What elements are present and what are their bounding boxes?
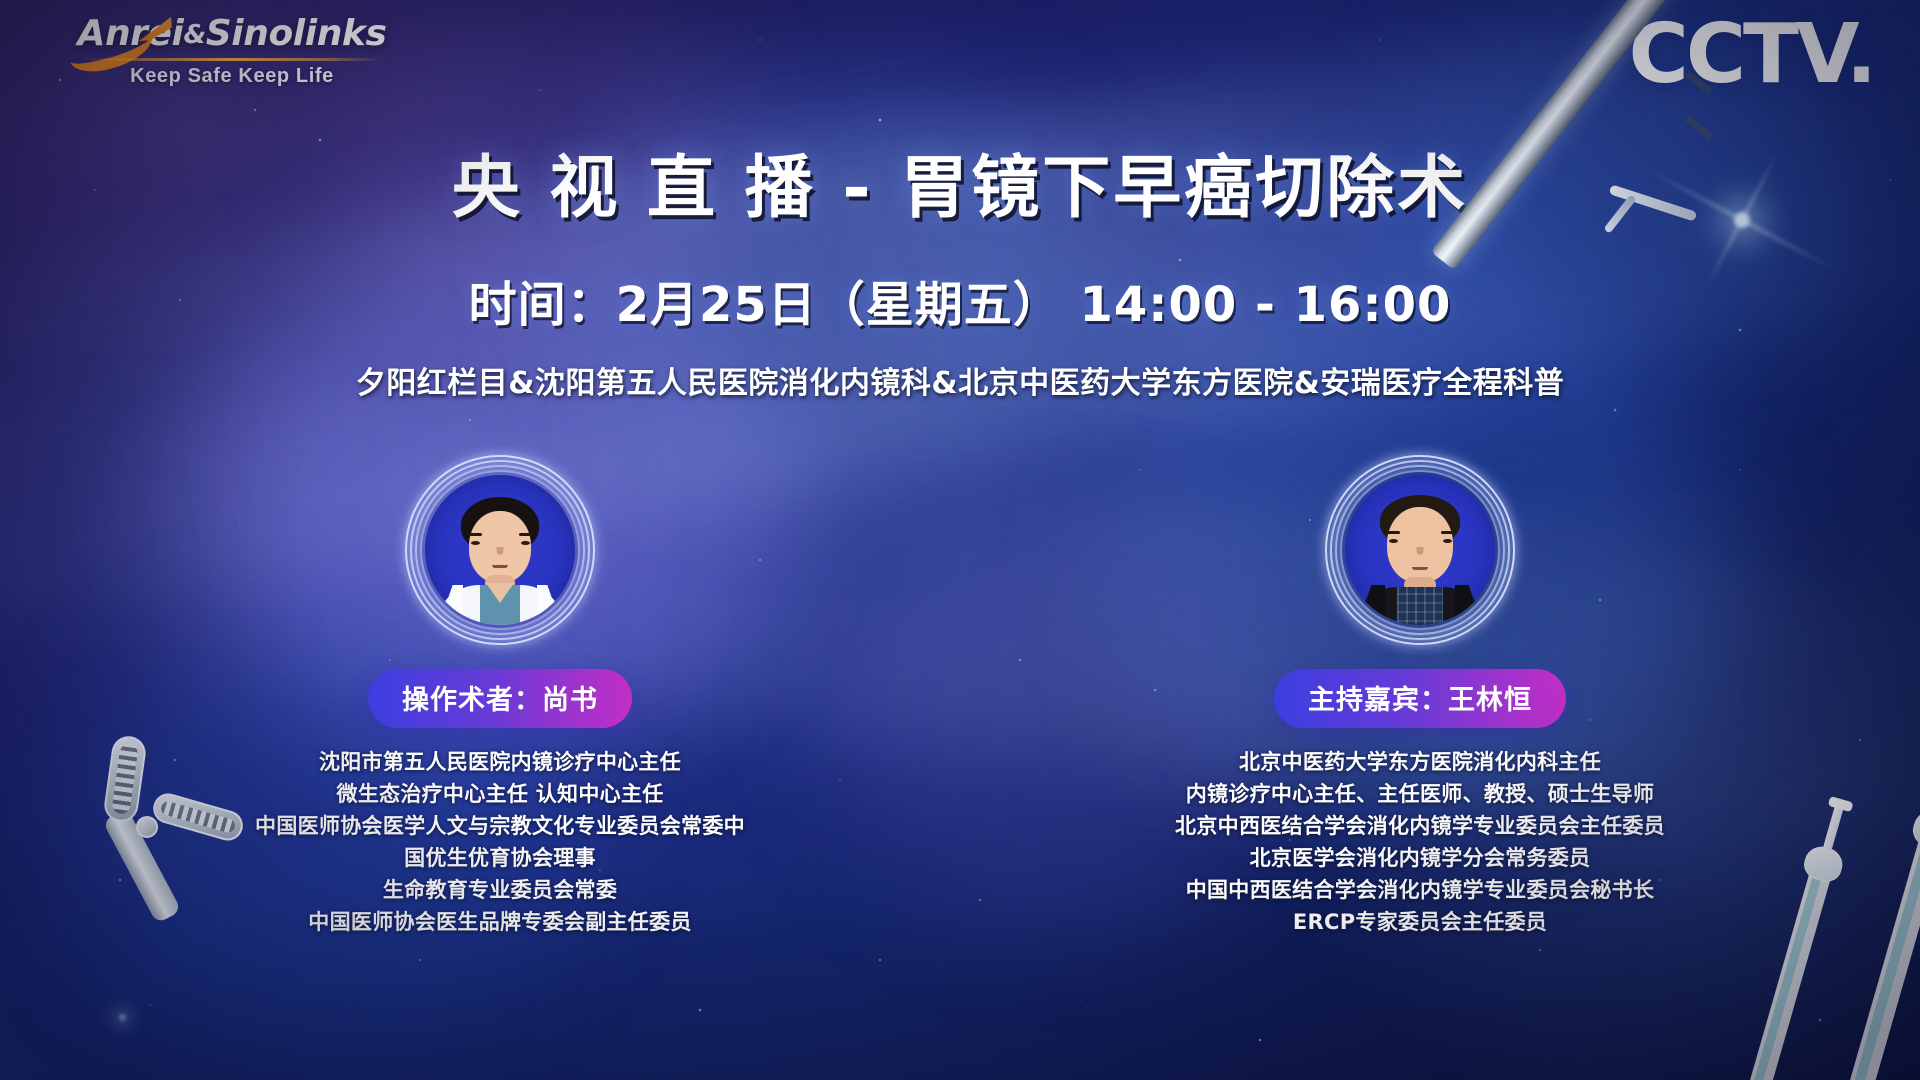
bio-line: 国优生优育协会理事 [255, 842, 745, 874]
poster-canvas: Anrei&Sinolinks Keep Safe Keep Life CCTV… [0, 0, 1920, 1080]
bio-line: ERCP专家委员会主任委员 [1175, 906, 1665, 938]
bio-line: 中国中西医结合学会消化内镜学专业委员会秘书长 [1175, 874, 1665, 906]
speaker-card: 主持嘉宾：王林恒 北京中医药大学东方医院消化内科主任 内镜诊疗中心主任、主任医师… [1110, 455, 1730, 938]
lens-flare [1734, 212, 1750, 228]
bio-line: 微生态治疗中心主任 认知中心主任 [255, 778, 745, 810]
page-title: 央 视 直 播 - 胃镜下早癌切除术 [0, 132, 1920, 231]
avatar-frame [405, 455, 595, 645]
bio-line: 中国医师协会医学人文与宗教文化专业委员会常委中 [255, 810, 745, 842]
brand-wordmark: Anrei&Sinolinks [72, 16, 392, 52]
speaker-name-badge: 主持嘉宾：王林恒 [1274, 669, 1566, 728]
brand-name-part1: Anrei [77, 13, 183, 54]
speaker-bio: 沈阳市第五人民医院内镜诊疗中心主任 微生态治疗中心主任 认知中心主任 中国医师协… [255, 746, 745, 938]
event-time: 时间：2月25日（星期五） 14:00 - 16:00 [0, 265, 1920, 335]
event-subtitle: 夕阳红栏目&沈阳第五人民医院消化内镜科&北京中医药大学东方医院&安瑞医疗全程科普 [0, 358, 1920, 402]
brand-divider [82, 58, 382, 61]
brand-logo: Anrei&Sinolinks Keep Safe Keep Life [72, 16, 392, 88]
bio-line: 沈阳市第五人民医院内镜诊疗中心主任 [255, 746, 745, 778]
bio-line: 北京中西医结合学会消化内镜学专业委员会主任委员 [1175, 810, 1665, 842]
sparkle [120, 1015, 125, 1020]
bio-line: 北京中医药大学东方医院消化内科主任 [1175, 746, 1665, 778]
speaker-list: 操作术者：尚书 沈阳市第五人民医院内镜诊疗中心主任 微生态治疗中心主任 认知中心… [0, 455, 1920, 938]
speaker-name-badge: 操作术者：尚书 [368, 669, 632, 728]
avatar [1345, 475, 1495, 625]
speaker-card: 操作术者：尚书 沈阳市第五人民医院内镜诊疗中心主任 微生态治疗中心主任 认知中心… [190, 455, 810, 938]
bio-line: 中国医师协会医生品牌专委会副主任委员 [255, 906, 745, 938]
brand-tagline: Keep Safe Keep Life [72, 65, 392, 88]
cctv-logo: CCTV. [1629, 14, 1874, 96]
avatar-frame [1325, 455, 1515, 645]
brand-name-part2: Sinolinks [206, 13, 387, 54]
avatar [425, 475, 575, 625]
speaker-bio: 北京中医药大学东方医院消化内科主任 内镜诊疗中心主任、主任医师、教授、硕士生导师… [1175, 746, 1665, 938]
bio-line: 生命教育专业委员会常委 [255, 874, 745, 906]
bio-line: 北京医学会消化内镜学分会常务委员 [1175, 842, 1665, 874]
brand-ampersand: & [184, 20, 206, 50]
bio-line: 内镜诊疗中心主任、主任医师、教授、硕士生导师 [1175, 778, 1665, 810]
